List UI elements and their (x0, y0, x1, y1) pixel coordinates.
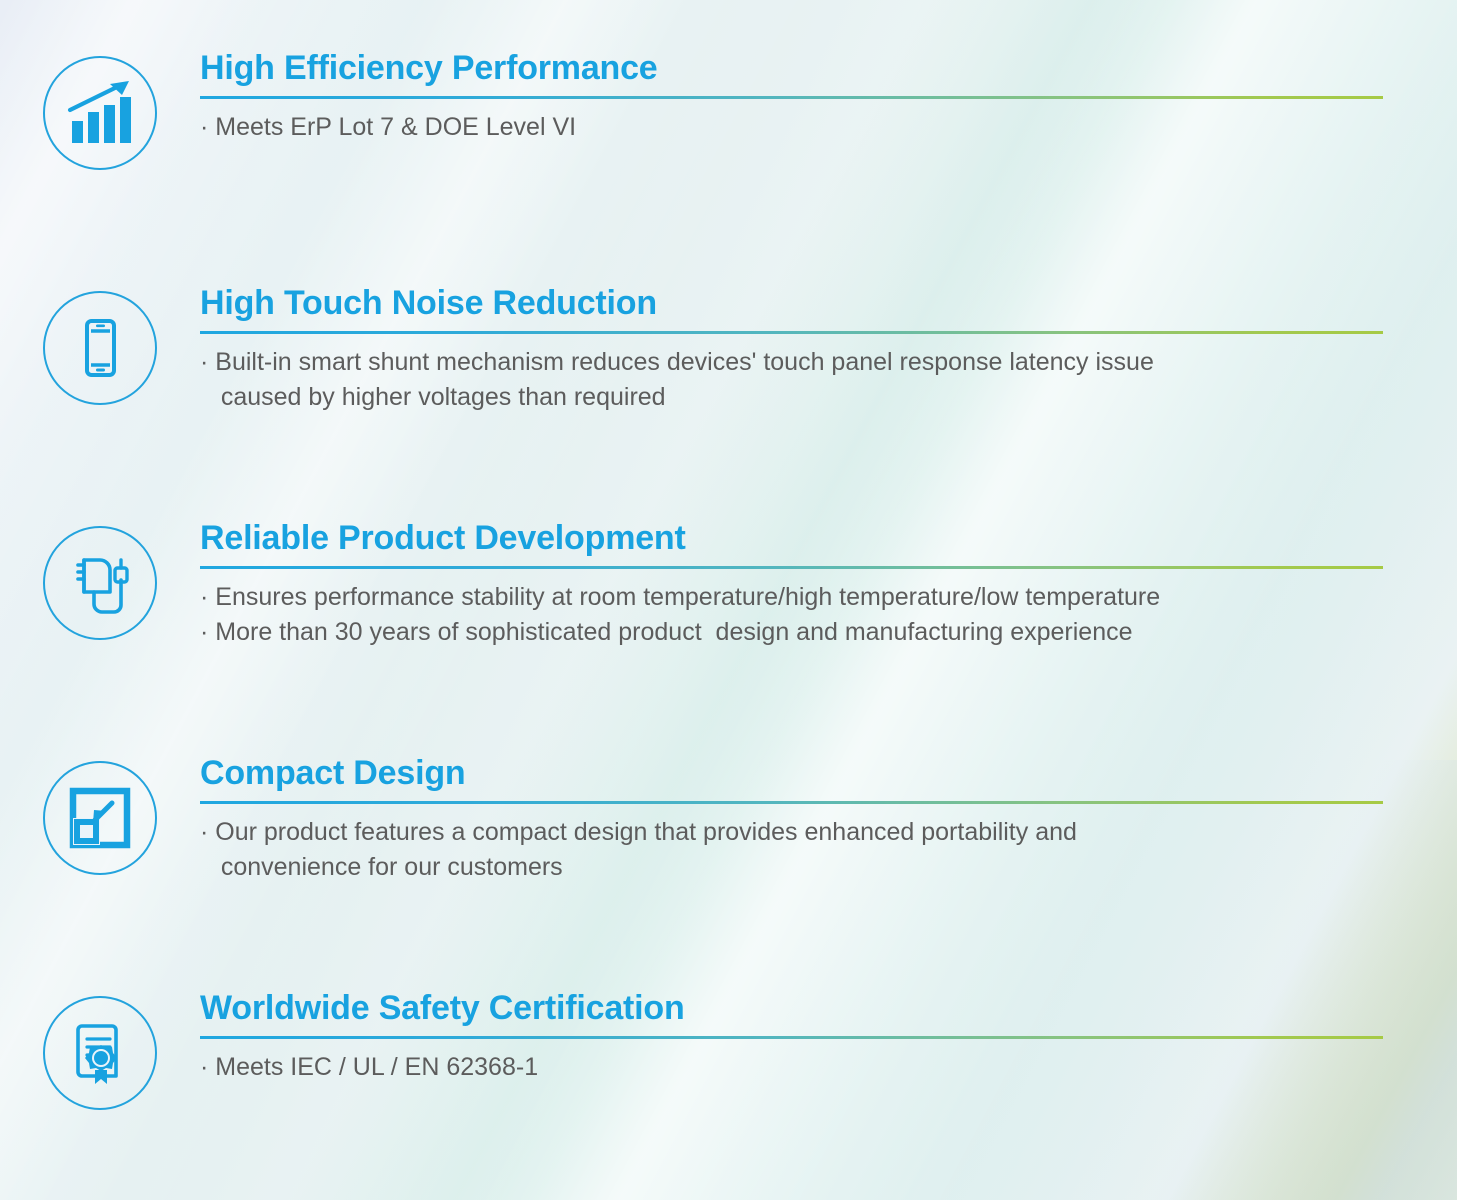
feature-body: Reliable Product Development · Ensures p… (200, 520, 1457, 651)
feature-icon-wrapper (0, 520, 200, 640)
feature-line: caused by higher voltages than required (200, 380, 1383, 416)
power-adapter-icon (43, 526, 157, 640)
feature-divider (200, 331, 1383, 334)
feature-line: · Built-in smart shunt mechanism reduces… (200, 345, 1383, 381)
feature-title: Worldwide Safety Certification (200, 990, 1383, 1027)
feature-icon-wrapper (0, 755, 200, 875)
feature-line: · Ensures performance stability at room … (200, 580, 1383, 616)
feature-icon-wrapper (0, 285, 200, 405)
feature-body: Compact Design · Our product features a … (200, 755, 1457, 886)
feature-line: · Meets IEC / UL / EN 62368-1 (200, 1050, 1383, 1086)
bar-chart-growth-icon (43, 56, 157, 170)
feature-line: convenience for our customers (200, 850, 1383, 886)
feature-row-high-touch-noise-reduction: High Touch Noise Reduction · Built-in sm… (0, 285, 1457, 416)
feature-body: High Touch Noise Reduction · Built-in sm… (200, 285, 1457, 416)
feature-title: Reliable Product Development (200, 520, 1383, 557)
feature-icon-wrapper (0, 990, 200, 1110)
feature-line: · Meets ErP Lot 7 & DOE Level VI (200, 110, 1383, 146)
feature-highlights-page: High Efficiency Performance · Meets ErP … (0, 0, 1457, 1200)
feature-body: High Efficiency Performance · Meets ErP … (200, 50, 1457, 145)
feature-row-high-efficiency-performance: High Efficiency Performance · Meets ErP … (0, 50, 1457, 170)
compact-resize-icon (43, 761, 157, 875)
feature-description: · Meets ErP Lot 7 & DOE Level VI (200, 110, 1383, 146)
feature-divider (200, 566, 1383, 569)
feature-line: · More than 30 years of sophisticated pr… (200, 615, 1383, 651)
feature-divider (200, 1036, 1383, 1039)
feature-description: · Meets IEC / UL / EN 62368-1 (200, 1050, 1383, 1086)
feature-body: Worldwide Safety Certification · Meets I… (200, 990, 1457, 1085)
feature-description: · Ensures performance stability at room … (200, 580, 1383, 652)
feature-description: · Built-in smart shunt mechanism reduces… (200, 345, 1383, 417)
feature-divider (200, 96, 1383, 99)
certificate-seal-icon (43, 996, 157, 1110)
feature-title: Compact Design (200, 755, 1383, 792)
feature-row-reliable-product-development: Reliable Product Development · Ensures p… (0, 520, 1457, 651)
feature-row-worldwide-safety-certification: Worldwide Safety Certification · Meets I… (0, 990, 1457, 1110)
feature-row-compact-design: Compact Design · Our product features a … (0, 755, 1457, 886)
feature-icon-wrapper (0, 50, 200, 170)
feature-title: High Efficiency Performance (200, 50, 1383, 87)
smartphone-icon (43, 291, 157, 405)
feature-line: · Our product features a compact design … (200, 815, 1383, 851)
feature-title: High Touch Noise Reduction (200, 285, 1383, 322)
feature-divider (200, 801, 1383, 804)
feature-description: · Our product features a compact design … (200, 815, 1383, 887)
